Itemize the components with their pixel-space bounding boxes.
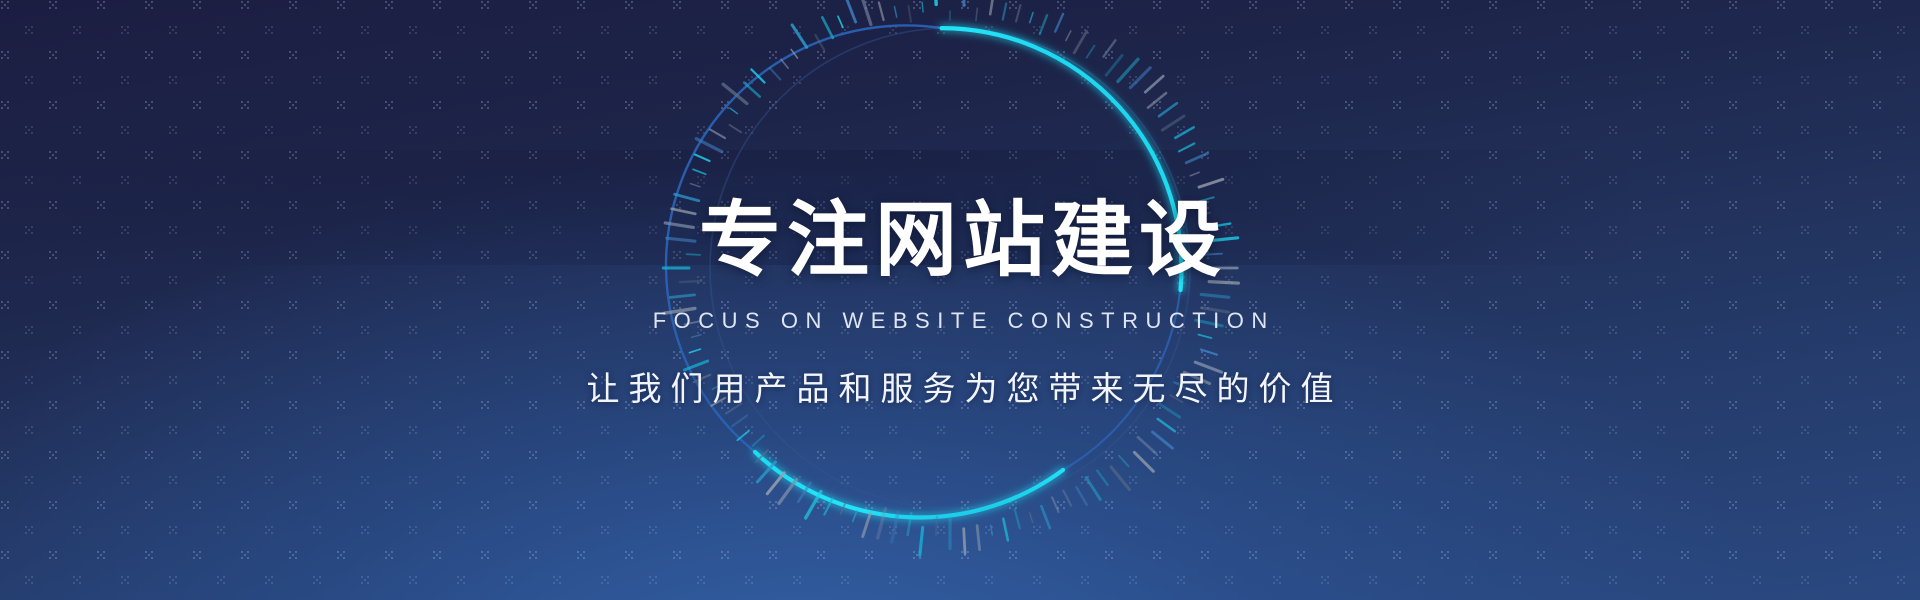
banner-headline: 专注网站建设 (693, 200, 1227, 282)
banner-subheadline-english: FOCUS ON WEBSITE CONSTRUCTION (645, 308, 1275, 334)
banner-text-block: 专注网站建设 FOCUS ON WEBSITE CONSTRUCTION 让我们… (0, 0, 1920, 600)
banner-tagline: 让我们用产品和服务为您带来无尽的价值 (578, 362, 1343, 410)
hero-banner: 专注网站建设 FOCUS ON WEBSITE CONSTRUCTION 让我们… (0, 0, 1920, 600)
